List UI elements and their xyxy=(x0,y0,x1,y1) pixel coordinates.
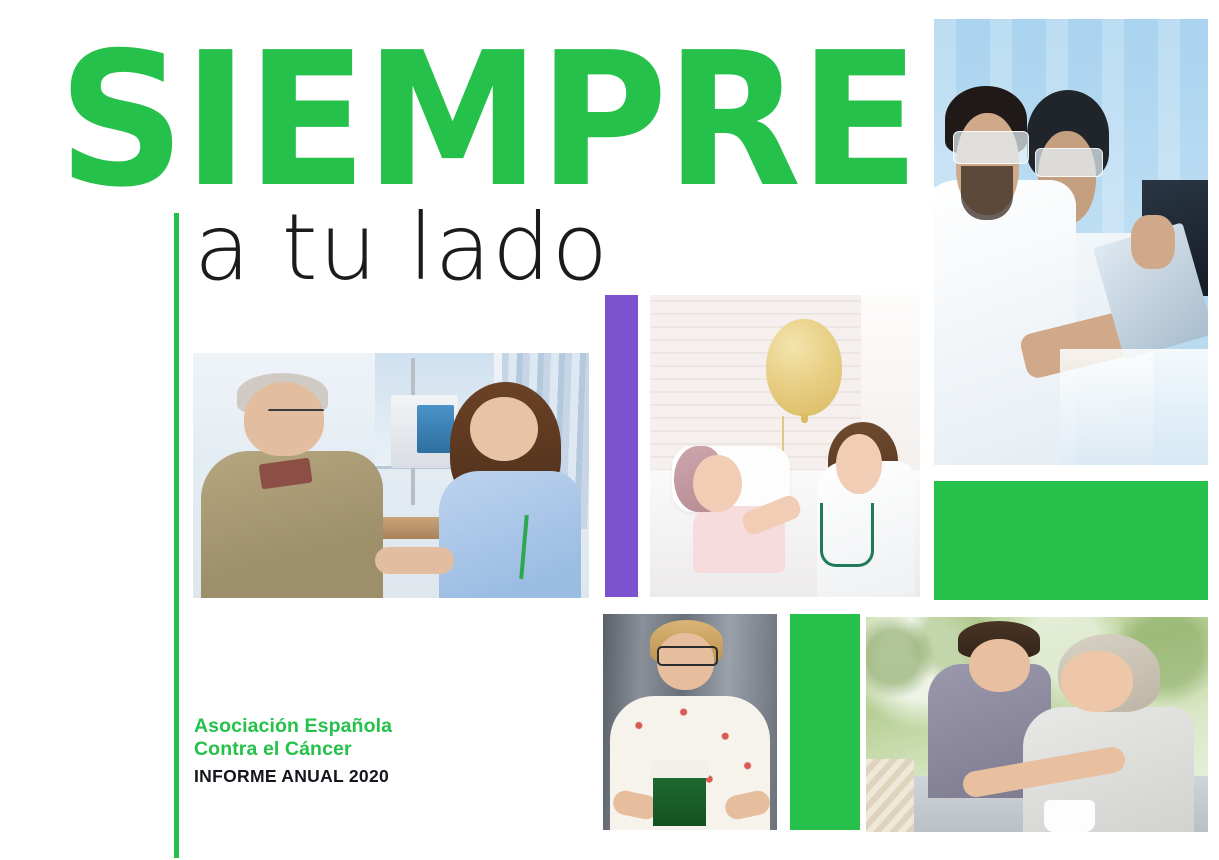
donation-box-lid xyxy=(650,759,709,778)
brand-green-vertical-bar xyxy=(790,614,860,830)
annual-report-cover: SIEMPRE a tu lado Asociación Española Co… xyxy=(0,0,1219,860)
couple-woman-head xyxy=(1061,651,1133,711)
organization-name-line-1: Asociación Española xyxy=(194,715,524,738)
chemo-joined-hands xyxy=(375,547,454,574)
lab-researcher-a-beard xyxy=(961,166,1013,220)
couple-man-head xyxy=(969,639,1031,693)
stethoscope-icon xyxy=(820,503,875,566)
white-mug-icon xyxy=(1044,800,1095,832)
volunteer-glasses xyxy=(657,646,718,665)
chemo-patient-glasses xyxy=(268,409,323,421)
page-title: SIEMPRE xyxy=(58,34,609,206)
lab-researcher-a-goggles xyxy=(953,131,1029,164)
accent-purple-vertical-bar xyxy=(605,295,638,597)
chemo-infusion-pump xyxy=(391,395,458,469)
lab-glassware-foreground xyxy=(1060,349,1208,465)
photo-chemotherapy-patient-and-nurse xyxy=(193,353,589,598)
photo-volunteer-with-donation-box xyxy=(603,614,777,830)
photo-laboratory-researchers xyxy=(934,19,1208,465)
lab-hand-holding-tablet xyxy=(1131,215,1175,269)
chemo-nurse-head xyxy=(470,397,537,461)
photo-child-patient-with-balloon xyxy=(650,295,920,597)
organization-block: Asociación Española Contra el Cáncer INF… xyxy=(194,715,524,787)
report-label: INFORME ANUAL 2020 xyxy=(194,765,524,787)
brand-green-vertical-rule xyxy=(174,213,179,858)
couple-knit-blanket xyxy=(866,759,914,832)
gold-balloon-icon xyxy=(766,319,842,416)
lab-researcher-b-goggles xyxy=(1035,148,1103,177)
balloon-child-head xyxy=(693,455,742,512)
lab-researcher-a-coat xyxy=(934,180,1076,465)
chemo-nurse-body xyxy=(439,471,582,598)
brand-green-rectangle xyxy=(934,481,1208,600)
photo-couple-embracing xyxy=(866,617,1208,832)
organization-name-line-2: Contra el Cáncer xyxy=(194,738,524,761)
page-subtitle: a tu lado xyxy=(194,200,609,296)
donation-box-icon xyxy=(653,774,705,826)
